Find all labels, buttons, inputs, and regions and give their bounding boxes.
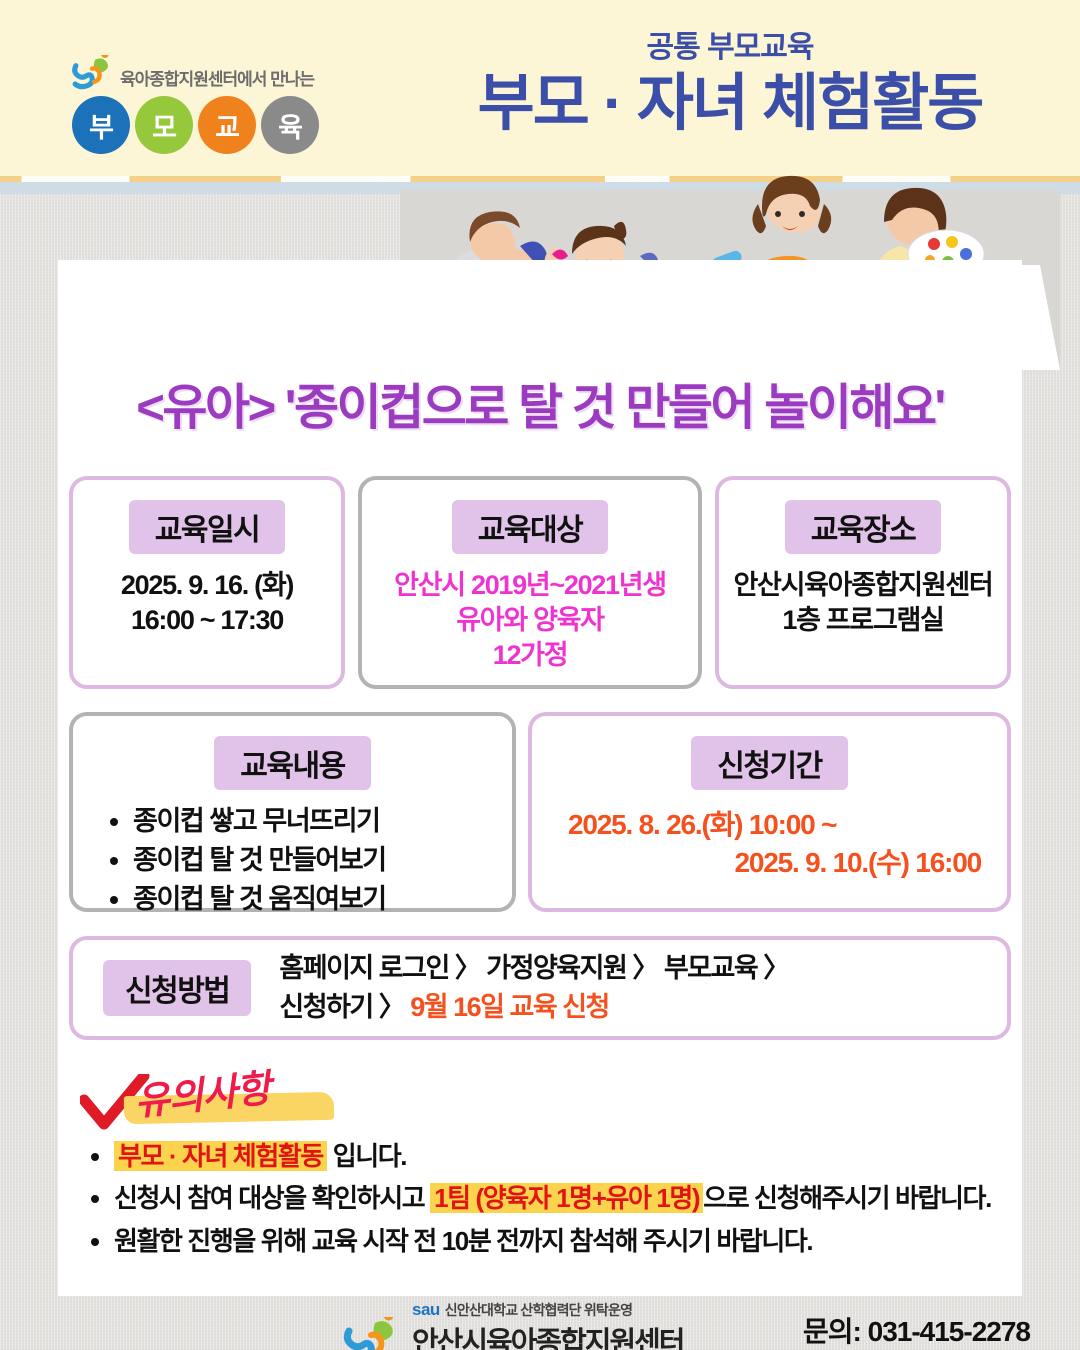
place-line-1: 안산시육아종합지원센터 [734,568,993,603]
logo-circle-row: 부 모 교 육 [72,96,370,154]
notice-1-mark: 부모 · 자녀 체험활동 [114,1141,327,1171]
info-box-target: 교육대상 안산시 2019년~2021년생 유아와 양육자 12가정 [358,476,702,689]
poster-main-card: <유아> '종이컵으로 탈 것 만들어 놀이해요' 교육일시 2025. 9. … [58,260,1022,1296]
target-line-2: 유아와 양육자 [394,603,666,638]
info-label-place: 교육장소 [785,500,941,554]
notice-2-mark: 1팀 (양육자 1명+유아 1명) [430,1183,703,1213]
info-label-apply: 신청방법 [103,960,251,1016]
sc-logo-icon [340,1317,402,1350]
date-line-1: 2025. 9. 16. (화) [121,568,293,603]
brand-logo-block: 육아종합지원센터에서 만나는 부 모 교 육 [70,55,370,154]
logo-circle-bu: 부 [72,96,130,154]
info-box-apply-method: 신청방법 홈페이지 로그인 〉 가정양육지원 〉 부모교육 〉 신청하기 〉 9… [69,936,1011,1040]
notice-2-post: 으로 신청해주시기 바랍니다. [703,1183,991,1213]
target-line-1: 안산시 2019년~2021년생 [394,568,666,603]
logo-circle-gyo: 교 [198,96,256,154]
apply-line-2: 신청하기 〉 9월 16일 교육 신청 [279,988,788,1027]
sc-logo-icon [70,55,114,91]
period-line-2: 2025. 9. 10.(수) 16:00 [554,844,985,882]
info-label-target: 교육대상 [452,500,608,554]
period-line-1: 2025. 8. 26.(화) 10:00 ~ [554,806,985,844]
apply-line-1: 홈페이지 로그인 〉 가정양육지원 〉 부모교육 〉 [279,949,788,988]
notice-heading-group: 유의사항 [76,1060,496,1132]
apply-line-2-plain: 신청하기 〉 [279,992,410,1022]
list-item: 종이컵 탈 것 움직여보기 [133,880,386,919]
date-line-2: 16:00 ~ 17:30 [121,603,293,638]
footer-operator-text: 신안산대학교 산학협력단 위탁운영 [445,1300,632,1320]
info-value-target: 안산시 2019년~2021년생 유아와 양육자 12가정 [394,568,666,673]
logo-tagline: 육아종합지원센터에서 만나는 [120,57,314,90]
notice-1-post: 입니다. [327,1141,406,1171]
info-value-date: 2025. 9. 16. (화) 16:00 ~ 17:30 [121,568,293,638]
logo-circle-mo: 모 [135,96,193,154]
info-label-content: 교육내용 [214,736,370,790]
footer-sau-row: sau 신안산대학교 산학협력단 위탁운영 [412,1300,683,1320]
poster-footer: sau 신안산대학교 산학협력단 위탁운영 안산시육아종합지원센터 문의: 03… [0,1296,1080,1350]
target-line-3: 12가정 [394,638,666,673]
info-box-content: 교육내용 종이컵 쌓고 무너뜨리기 종이컵 탈 것 만들어보기 종이컵 탈 것 … [69,712,516,912]
notice-2-pre: 신청시 참여 대상을 확인하시고 [114,1183,430,1213]
info-box-place: 교육장소 안산시육아종합지원센터 1층 프로그램실 [715,476,1011,689]
notice-item-list: 부모 · 자녀 체험활동 입니다. 신청시 참여 대상을 확인하시고 1팀 (양… [80,1136,1010,1263]
list-item: 종이컵 쌓고 무너뜨리기 [133,802,386,841]
header-title: 부모 · 자녀 체험활동 [420,68,1040,139]
info-label-period: 신청기간 [691,736,847,790]
list-item: 신청시 참여 대상을 확인하시고 1팀 (양육자 1명+유아 1명)으로 신청해… [114,1178,1010,1218]
footer-brand: sau 신안산대학교 산학협력단 위탁운영 안산시육아종합지원센터 [340,1300,683,1350]
info-box-date: 교육일시 2025. 9. 16. (화) 16:00 ~ 17:30 [69,476,345,689]
info-label-date: 교육일시 [129,500,285,554]
page-title: <유아> '종이컵으로 탈 것 만들어 놀이해요' [58,368,1022,439]
apply-line-2-highlight: 9월 16일 교육 신청 [410,992,609,1022]
header-kicker: 공통 부모교육 [420,22,1040,66]
sau-logo-text: sau [412,1300,440,1320]
info-value-apply: 홈페이지 로그인 〉 가정양육지원 〉 부모교육 〉 신청하기 〉 9월 16일… [279,949,788,1027]
list-item: 원활한 진행을 위해 교육 시작 전 10분 전까지 참석해 주시기 바랍니다. [114,1221,1010,1261]
logo-circle-yuk: 육 [261,96,319,154]
list-item: 종이컵 탈 것 만들어보기 [133,841,386,880]
place-line-2: 1층 프로그램실 [734,603,993,638]
header-title-group: 공통 부모교육 부모 · 자녀 체험활동 [420,22,1040,139]
footer-text-group: sau 신안산대학교 산학협력단 위탁운영 안산시육아종합지원센터 [412,1300,683,1350]
info-box-period: 신청기간 2025. 8. 26.(화) 10:00 ~ 2025. 9. 10… [528,712,1011,912]
footer-center-name: 안산시육아종합지원센터 [412,1319,683,1350]
notice-3-pre: 원활한 진행을 위해 교육 시작 전 10분 전까지 참석해 주시기 바랍니다. [114,1226,812,1256]
info-value-period: 2025. 8. 26.(화) 10:00 ~ 2025. 9. 10.(수) … [532,806,1007,882]
list-item: 부모 · 자녀 체험활동 입니다. [114,1136,1010,1176]
footer-contact: 문의: 031-415-2278 [803,1310,1030,1350]
content-item-list: 종이컵 쌓고 무너뜨리기 종이컵 탈 것 만들어보기 종이컵 탈 것 움직여보기 [105,802,386,919]
info-value-place: 안산시육아종합지원센터 1층 프로그램실 [734,568,993,638]
